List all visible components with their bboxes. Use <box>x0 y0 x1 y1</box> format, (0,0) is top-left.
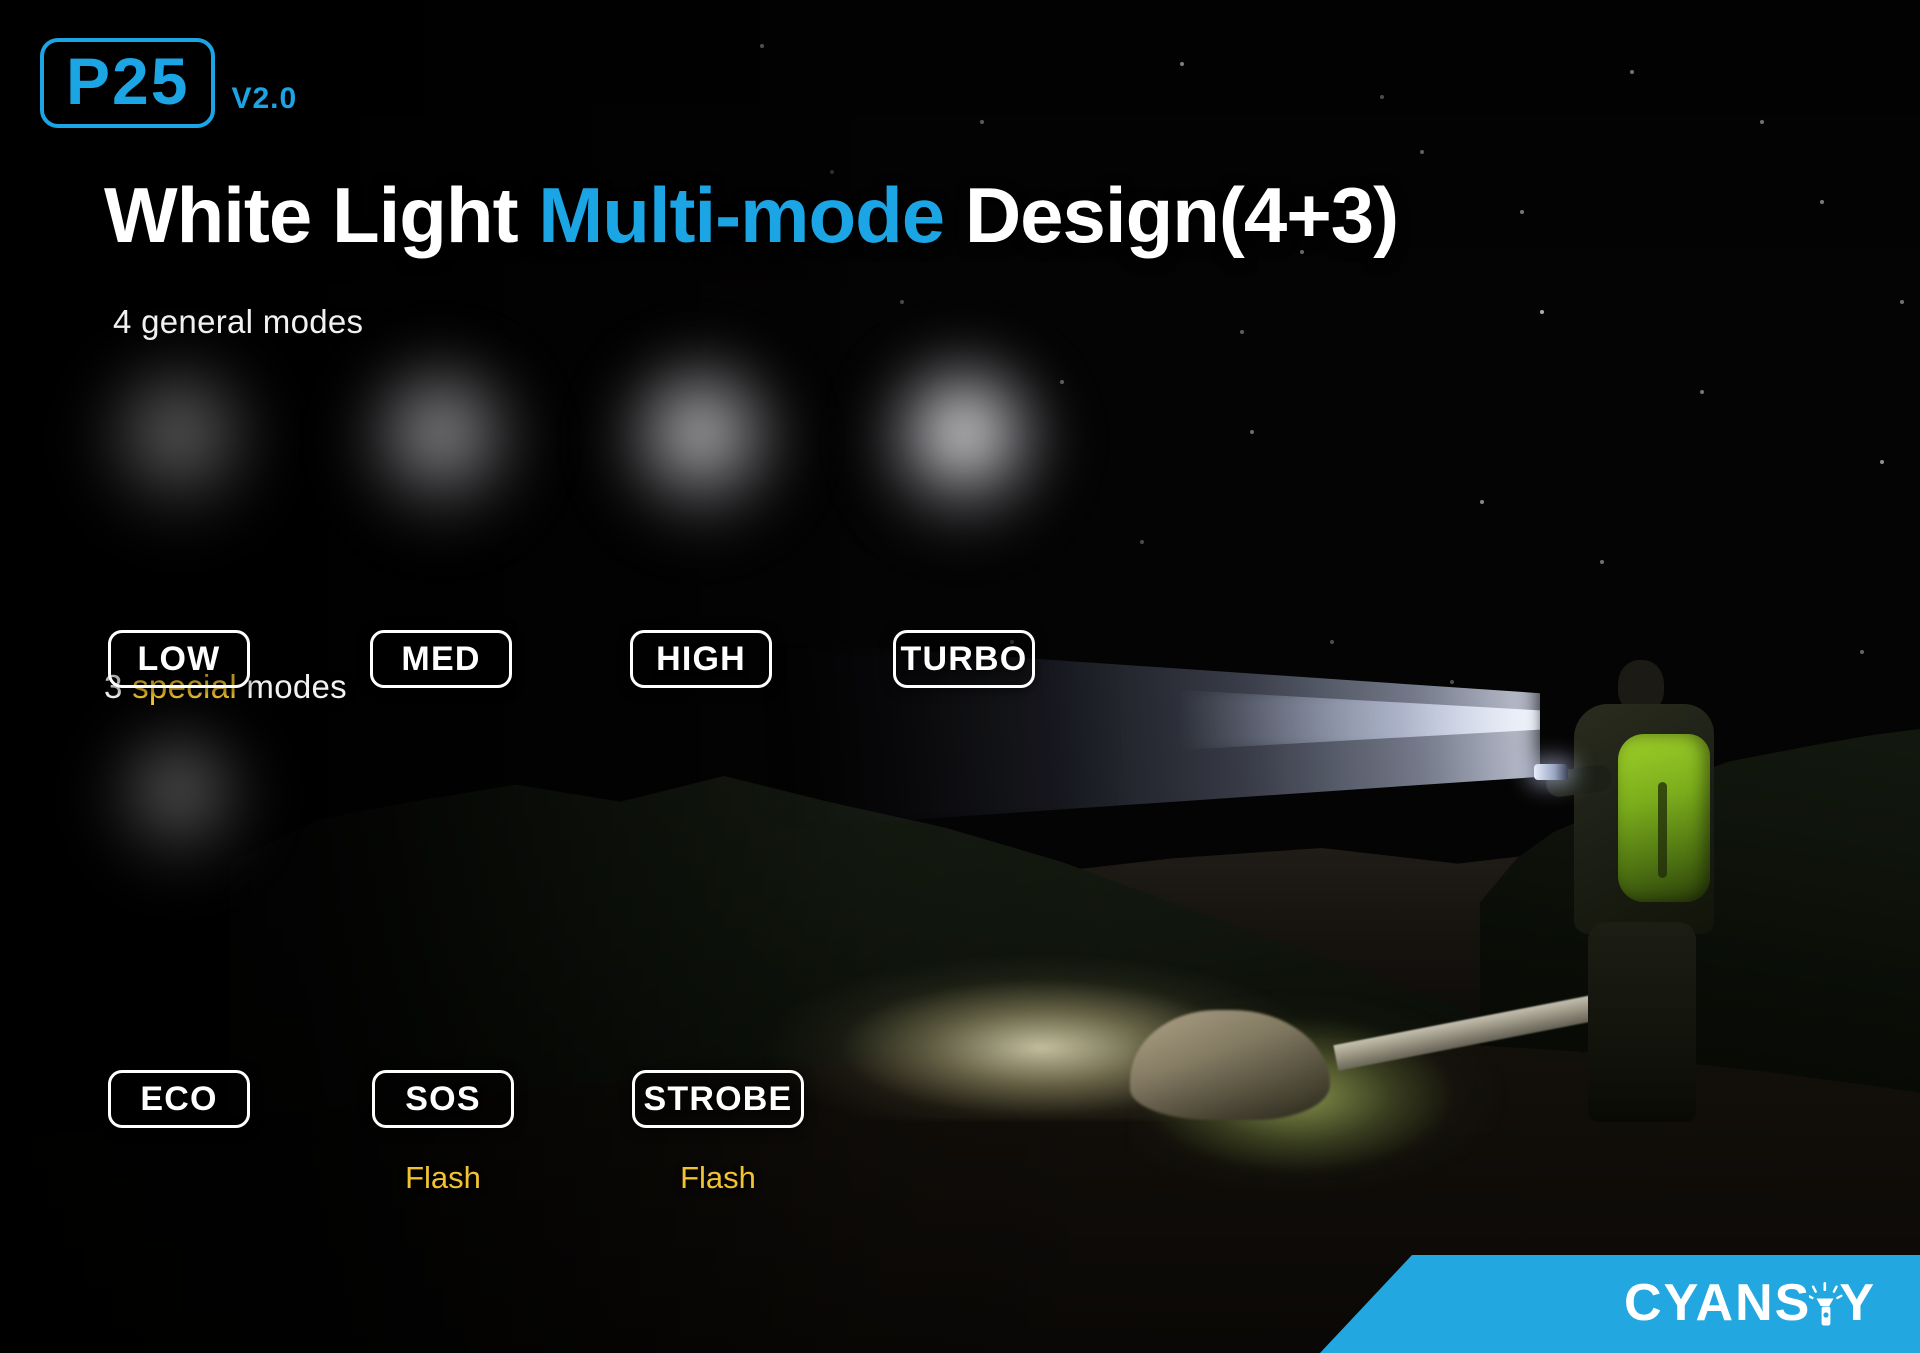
poster-canvas: P25 V2.0 White Light Multi-mode Design(4… <box>0 0 1920 1353</box>
light-glow-turbo <box>869 350 1059 540</box>
brand-wordmark: CYANS Y <box>1624 1273 1876 1333</box>
mode-button-high[interactable]: HIGH <box>630 630 772 688</box>
general-modes-label: 4 general modes <box>113 303 363 341</box>
brand-name-part-b: Y <box>1839 1273 1876 1333</box>
mode-button-strobe[interactable]: STROBE <box>632 1070 804 1128</box>
brand-name-part-a: CYANS <box>1624 1273 1811 1333</box>
product-badge: P25 <box>40 38 215 128</box>
light-glow-med <box>346 350 536 540</box>
light-glow-eco <box>94 716 264 886</box>
poster-content: P25 V2.0 White Light Multi-mode Design(4… <box>0 0 1920 1353</box>
title-part-1: White Light <box>104 171 538 259</box>
mode-button-low[interactable]: LOW <box>108 630 250 688</box>
light-glow-low <box>84 350 274 540</box>
light-glow-high <box>606 350 796 540</box>
mode-note-sos: Flash <box>405 1160 481 1196</box>
title-part-3: Design(4+3) <box>944 171 1398 259</box>
title-part-2-highlight: Multi-mode <box>538 171 944 259</box>
mode-button-med[interactable]: MED <box>370 630 512 688</box>
mode-button-sos[interactable]: SOS <box>372 1070 514 1128</box>
page-title: White Light Multi-mode Design(4+3) <box>104 175 1398 257</box>
mode-button-eco[interactable]: ECO <box>108 1070 250 1128</box>
flashlight-icon <box>1809 1280 1843 1326</box>
version-label: V2.0 <box>231 82 297 116</box>
special-label-suffix: modes <box>237 668 347 705</box>
mode-note-strobe: Flash <box>680 1160 756 1196</box>
product-logo: P25 V2.0 <box>40 38 297 128</box>
mode-button-turbo[interactable]: TURBO <box>893 630 1035 688</box>
